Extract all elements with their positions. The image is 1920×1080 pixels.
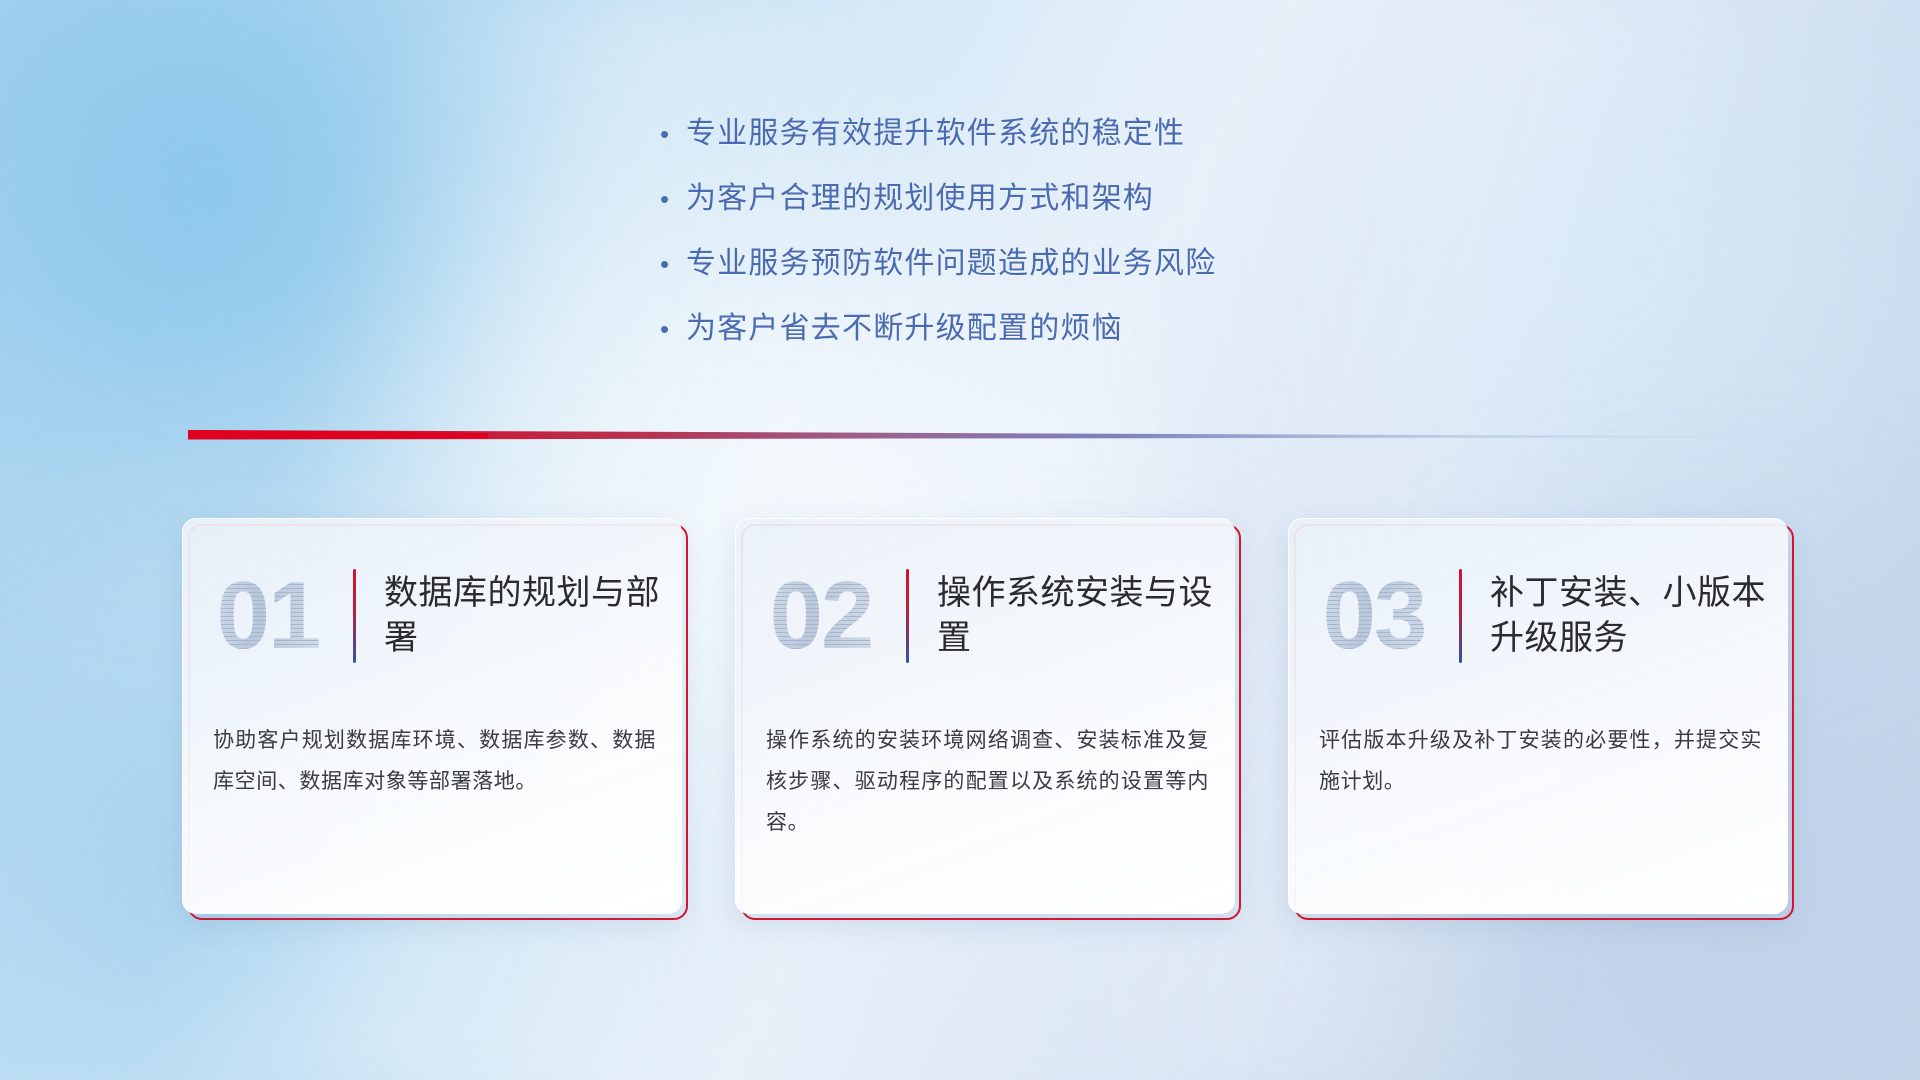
bullet-dot-icon: •: [660, 186, 686, 212]
service-card[interactable]: 01 数据库的规划与部署 协助客户规划数据库环境、数据库参数、数据库空间、数据库…: [182, 518, 682, 914]
section-divider: [188, 424, 1736, 446]
card-panel: 02 操作系统安装与设置 操作系统的安装环境网络调查、安装标准及复核步骤、驱动程…: [735, 518, 1235, 914]
card-accent-bar: [906, 569, 909, 663]
service-card[interactable]: 02 操作系统安装与设置 操作系统的安装环境网络调查、安装标准及复核步骤、驱动程…: [735, 518, 1235, 914]
list-item: • 为客户合理的规划使用方式和架构: [660, 173, 1480, 238]
card-number: 03: [1289, 568, 1459, 664]
card-title: 补丁安装、小版本升级服务: [1490, 571, 1788, 661]
list-item: • 专业服务预防软件问题造成的业务风险: [660, 238, 1480, 303]
slide-canvas: • 专业服务有效提升软件系统的稳定性 • 为客户合理的规划使用方式和架构 • 专…: [0, 0, 1920, 1080]
card-header: 02 操作系统安装与设置: [736, 541, 1235, 691]
card-number: 01: [183, 568, 353, 664]
service-card[interactable]: 03 补丁安装、小版本升级服务 评估版本升级及补丁安装的必要性，并提交实施计划。: [1288, 518, 1788, 914]
card-panel: 01 数据库的规划与部署 协助客户规划数据库环境、数据库参数、数据库空间、数据库…: [182, 518, 682, 914]
card-panel: 03 补丁安装、小版本升级服务 评估版本升级及补丁安装的必要性，并提交实施计划。: [1288, 518, 1788, 914]
bullet-label: 为客户合理的规划使用方式和架构: [686, 173, 1154, 217]
list-item: • 专业服务有效提升软件系统的稳定性: [660, 108, 1480, 173]
card-header: 01 数据库的规划与部署: [183, 541, 682, 691]
card-accent-bar: [353, 569, 356, 663]
list-item: • 为客户省去不断升级配置的烦恼: [660, 303, 1480, 368]
card-header: 03 补丁安装、小版本升级服务: [1289, 541, 1788, 691]
service-card-row: 01 数据库的规划与部署 协助客户规划数据库环境、数据库参数、数据库空间、数据库…: [182, 518, 1788, 918]
benefits-bullet-list: • 专业服务有效提升软件系统的稳定性 • 为客户合理的规划使用方式和架构 • 专…: [660, 108, 1480, 368]
card-title: 数据库的规划与部署: [384, 571, 682, 661]
card-body-text: 评估版本升级及补丁安装的必要性，并提交实施计划。: [1319, 721, 1762, 803]
card-title: 操作系统安装与设置: [937, 571, 1235, 661]
bullet-label: 专业服务预防软件问题造成的业务风险: [686, 238, 1216, 282]
card-number: 02: [736, 568, 906, 664]
card-body-text: 协助客户规划数据库环境、数据库参数、数据库空间、数据库对象等部署落地。: [213, 721, 656, 803]
bullet-dot-icon: •: [660, 121, 686, 147]
card-accent-bar: [1459, 569, 1462, 663]
bullet-dot-icon: •: [660, 316, 686, 342]
bullet-label: 专业服务有效提升软件系统的稳定性: [686, 108, 1185, 152]
card-body-text: 操作系统的安装环境网络调查、安装标准及复核步骤、驱动程序的配置以及系统的设置等内…: [766, 721, 1209, 844]
background-bloom-top-left: [0, 0, 600, 540]
bullet-label: 为客户省去不断升级配置的烦恼: [686, 303, 1123, 347]
bullet-dot-icon: •: [660, 251, 686, 277]
